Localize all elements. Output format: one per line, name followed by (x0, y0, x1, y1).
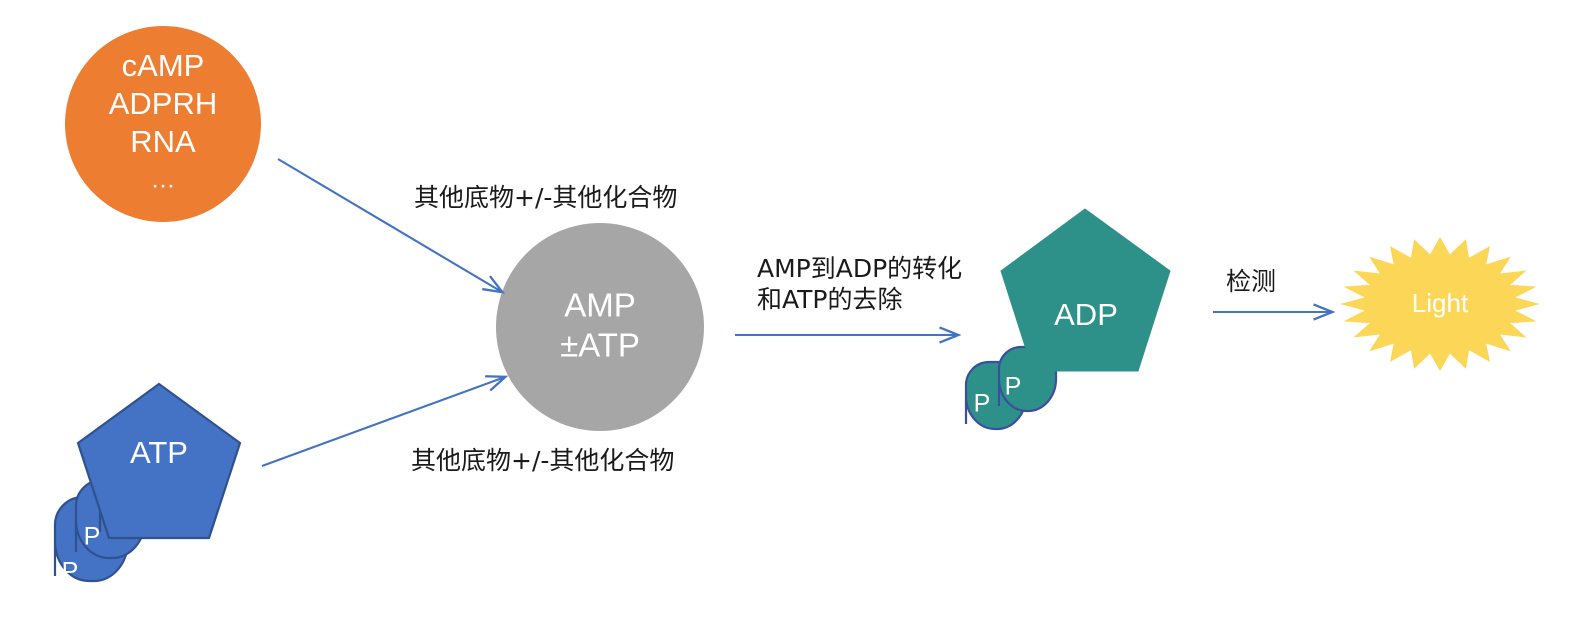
substrate-label-line-2: ADPRH (109, 86, 218, 121)
arrow-label-amp-to-adp-line-2: 和ATP的去除 (757, 285, 903, 314)
atp-phosphate-2-letter: P (84, 523, 101, 551)
atp-phosphate-3-letter: P (62, 558, 79, 586)
atp-pentagon-label: ATP (130, 435, 188, 470)
diagram-canvas: cAMP ADPRH RNA … P P P ATP AMP ±ATP (0, 0, 1588, 621)
node-light-burst[interactable]: Light (1340, 237, 1540, 371)
arrow-label-atp-to-amp: 其他底物+/-其他化合物 (411, 446, 674, 475)
substrate-label-line-1: cAMP (122, 48, 205, 83)
diagram-svg: cAMP ADPRH RNA … P P P ATP AMP ±ATP (0, 0, 1588, 621)
arrow-substrate-to-amp-line (278, 159, 502, 292)
adp-pentagon-shape (1001, 209, 1170, 371)
node-atp-pentagon[interactable]: P P P ATP (55, 384, 240, 586)
adp-phosphate-1-letter: P (1005, 373, 1022, 401)
node-substrate-circle[interactable]: cAMP ADPRH RNA … (65, 26, 261, 222)
substrate-label-line-3: RNA (130, 124, 196, 159)
adp-pentagon-label: ADP (1054, 297, 1118, 332)
arrow-label-substrate-to-amp: 其他底物+/-其他化合物 (414, 183, 677, 212)
arrow-label-adp-to-light: 检测 (1226, 267, 1276, 296)
arrow-substrate-to-amp (278, 159, 502, 292)
light-burst-label: Light (1412, 288, 1469, 318)
arrow-label-amp-to-adp-line-1: AMP到ADP的转化 (757, 254, 962, 283)
node-amp-circle[interactable]: AMP ±ATP (496, 223, 704, 431)
substrate-label-line-4: … (151, 166, 176, 194)
amp-label-line-1: AMP (564, 287, 636, 324)
adp-phosphate-2-letter: P (974, 390, 991, 418)
amp-label-line-2: ±ATP (560, 327, 640, 364)
node-adp-pentagon[interactable]: P P ADP (966, 209, 1170, 429)
